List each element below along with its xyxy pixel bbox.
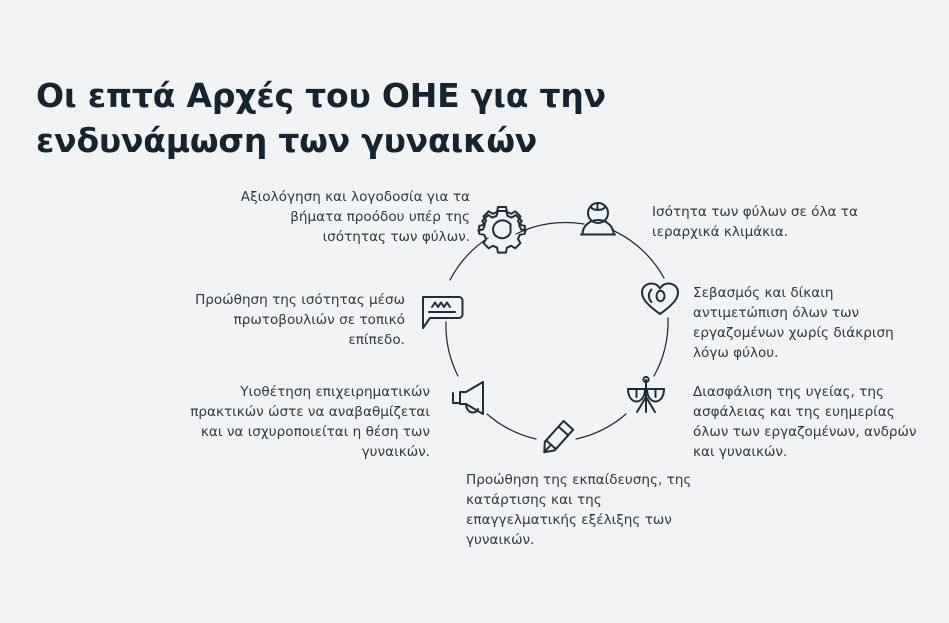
heart-icon [642, 284, 678, 315]
arc-gear-to-person [516, 222, 584, 234]
arc-scales-to-pencil [576, 414, 626, 439]
arc-pencil-to-megaphone [487, 414, 536, 439]
infographic-page: Οι επτά Αρχές του ΟΗΕ για την ενδυνάμωση… [0, 0, 949, 623]
page-title: Οι επτά Αρχές του ΟΗΕ για την ενδυνάμωση… [36, 74, 656, 163]
principle-label-business: Υιοθέτηση επιχειρηματικών πρακτικών ώστε… [185, 383, 430, 463]
scales-icon [628, 377, 664, 412]
principle-label-health: Διασφάλιση της υγείας, της ασφάλειας και… [693, 383, 918, 463]
speech-bubble-chart-icon [423, 297, 463, 328]
pencil-icon [539, 421, 573, 456]
cycle-arcs [446, 222, 668, 439]
principle-label-accountability: Αξιολόγηση και λογοδοσία για τα βήματα π… [230, 188, 470, 248]
gear-icon [478, 207, 526, 253]
principle-label-education: Προώθηση της εκπαίδευσης, της κατάρτισης… [466, 471, 711, 551]
principle-label-community: Προώθηση της ισότητας μέσω πρωτοβουλιών … [190, 291, 405, 351]
arc-megaphone-to-bubble [446, 322, 458, 376]
person-icon [581, 203, 615, 235]
principle-label-leadership: Ισότητα των φύλων σε όλα τα ιεραρχικά κλ… [652, 203, 887, 243]
megaphone-icon [453, 382, 483, 414]
principle-label-respect: Σεβασμός και δίκαιη αντιμετώπιση όλων τω… [693, 284, 923, 364]
arc-heart-to-scales [654, 318, 668, 376]
